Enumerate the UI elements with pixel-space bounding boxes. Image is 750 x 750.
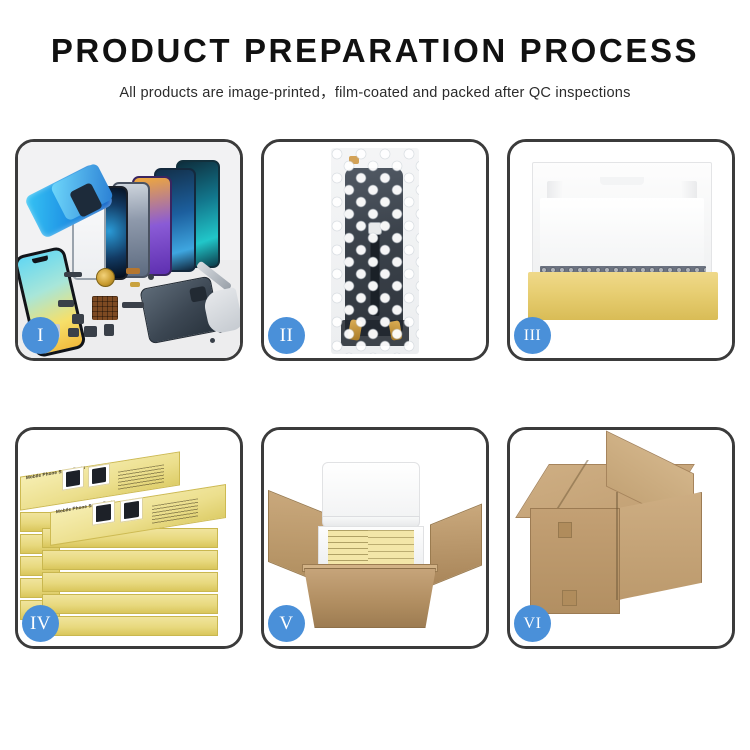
process-step-panel-6[interactable]: VI [507,427,735,649]
box-window [120,497,143,523]
step-badge-6: VI [514,605,551,642]
page-subtitle: All products are image-printed，film-coat… [0,81,750,102]
flex-cable-component [126,268,140,274]
process-step-grid: I II [15,139,735,649]
chip-component [92,296,118,320]
carton-vertical-edge [616,492,618,600]
box-slab [42,550,218,570]
process-step-panel-4[interactable]: Mobile Phone Spare Parts Mobile Phone Sp… [15,427,243,649]
foam-box-lid [322,462,420,524]
bracket-component [58,300,74,307]
step-badge-2: II [268,317,305,354]
coil-component [96,268,115,287]
contact-component [130,282,140,287]
foam-sheet [540,198,704,270]
carton-side-face [618,492,702,600]
bubble-texture [331,148,419,354]
carton-tape-upper [558,522,572,538]
step-badge-1: I [22,317,59,354]
packed-boxes-group [328,530,414,568]
box-slab [42,616,218,636]
bubble-wrap-package [331,148,419,354]
connector-component [64,272,82,277]
step-badge-4: IV [22,605,59,642]
process-step-panel-3[interactable]: III [507,139,735,361]
speaker-component [72,314,84,324]
box-window [92,500,115,526]
screw-component [210,338,215,343]
process-step-panel-2[interactable]: II [261,139,489,361]
process-step-panel-5[interactable]: V [261,427,489,649]
carton-tape-lower [562,590,577,606]
box-window [88,463,110,487]
screw-component [148,274,154,280]
step-badge-5: V [268,605,305,642]
box-slab [42,594,218,614]
notch-icon [32,255,49,263]
camera-component [68,328,79,337]
carton-flap-right [430,503,482,586]
box-slab [42,572,218,592]
motor-component [104,324,114,336]
page-title: PRODUCT PREPARATION PROCESS [0,34,750,69]
button-component [84,326,97,337]
ribbon-component [122,302,144,308]
packed-boxes-right [368,530,414,568]
lid-tab [600,177,644,185]
box-window [62,466,84,490]
carton-body [304,568,436,628]
process-step-panel-1[interactable]: I [15,139,243,361]
packed-boxes-left [328,530,368,568]
step-badge-3: III [514,317,551,354]
kraft-box-base [528,272,718,320]
page-header: PRODUCT PREPARATION PROCESS All products… [0,0,750,102]
